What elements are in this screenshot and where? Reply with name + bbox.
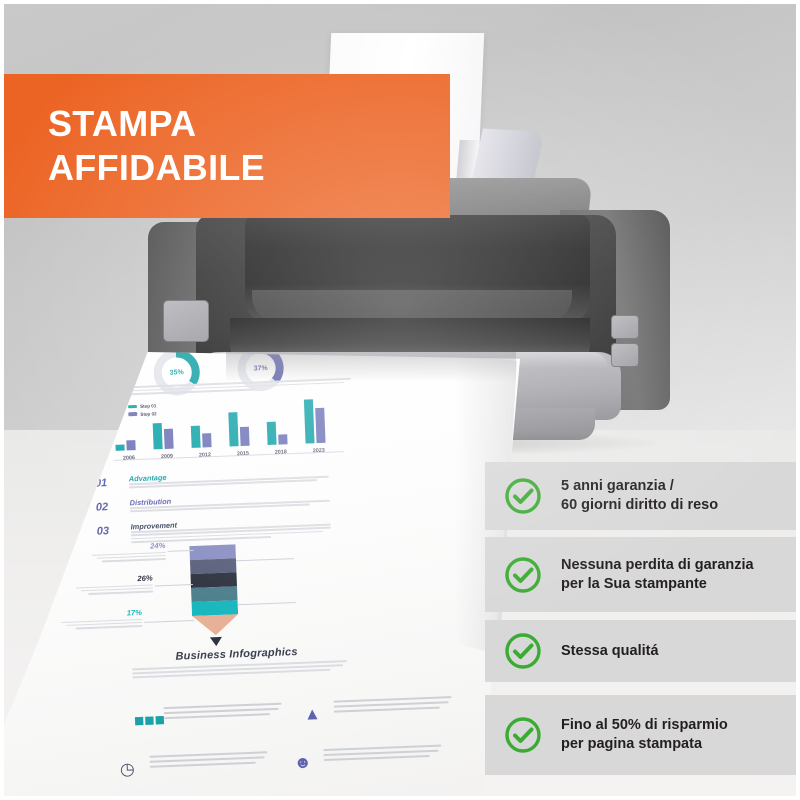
feature-box-savings[interactable]: Fino al 50% di risparmio per pagina stam… [485,695,796,775]
check-circle-icon [503,555,543,595]
numbered-item-03-number: 03 [97,525,110,537]
bar-group-2015 [228,445,258,446]
funnel-callout-17: 17% [56,608,143,630]
pencil-tip [192,614,239,636]
bar-label-2023: 2023 [304,447,334,454]
printer-control-button-1[interactable] [611,315,639,339]
bar-group-2006 [114,450,144,451]
bar-group-2012 [190,447,220,448]
numbered-list: 01 Advantage 02 Distribution 03 Improvem… [95,466,338,553]
feature-line-1: Stessa qualitá [561,643,659,659]
feature-box-savings-text: Fino al 50% di risparmio per pagina stam… [561,716,728,753]
bar-group-2023 [304,442,334,443]
bar-2015-step-02 [240,427,250,447]
numbered-item-02-number: 02 [96,501,109,513]
feature-icon-item-growth: ▲ [303,696,458,702]
bar-2018-step-02 [278,434,287,445]
feature-icon-item-support: ◷ [119,751,274,757]
bar-label-2018: 2018 [266,449,296,456]
feature-box-no-warranty-loss-text: Nessuna perdita di garanzia per la Sua s… [561,556,754,593]
funnel-callout-24-text [80,552,166,563]
funnel-callout-24: 24% [79,541,166,563]
bar-label-2006: 2006 [114,455,144,462]
feature-icon-item-idea-text [323,744,443,764]
feature-line-2: 60 giorni diritto di reso [561,497,718,513]
feature-box-no-warranty-loss[interactable]: Nessuna perdita di garanzia per la Sua s… [485,537,796,612]
headline-line-2: AFFIDABILE [48,146,438,190]
bar-2006-step-01 [115,444,124,451]
bar-2006-step-02 [126,440,135,450]
headline-line-1: STAMPA [48,102,438,146]
bar-2023-step-01 [304,399,315,443]
feature-box-same-quality-text: Stessa qualitá [561,642,659,661]
bar-chart: 200620092012201520182023 [112,390,344,461]
check-circle-icon [503,631,543,671]
funnel-leader-line-4 [236,558,294,561]
feature-icon-item-people: ■■■ [134,702,289,708]
lightbulb-idea-icon: ☻ [293,754,312,772]
printout-business-paragraph [132,660,347,681]
feature-box-same-quality[interactable]: Stessa qualitá [485,620,796,682]
bar-group-2018 [266,444,296,445]
feature-line-1: 5 anni garanzia / [561,478,674,494]
bar-2012-step-01 [191,426,201,448]
clock-support-icon: ◷ [120,760,135,778]
people-icon: ■■■ [134,711,165,729]
funnel-callout-17-text [56,619,142,630]
feature-line-2: per la Sua stampante [561,576,707,592]
printer-control-button-2[interactable] [611,343,639,367]
check-circle-icon [503,476,543,516]
printer-power-button[interactable] [163,300,209,342]
feature-box-warranty-text: 5 anni garanzia / 60 giorni diritto di r… [561,477,718,514]
bar-label-2009: 2009 [152,453,182,460]
check-circle-icon [503,715,543,755]
funnel-pencil-graphic [189,544,238,636]
feature-line-1: Fino al 50% di risparmio [561,717,728,733]
pencil-lead [210,637,222,646]
bar-2015-step-01 [228,413,238,447]
bar-2009-step-01 [153,423,163,450]
bar-label-2012: 2012 [190,452,220,459]
feature-icon-item-idea: ☻ [293,744,448,750]
feature-icon-item-growth-text [333,696,453,716]
headline-banner: STAMPA AFFIDABILE [0,74,450,218]
bar-2018-step-01 [267,421,277,445]
bar-2023-step-02 [315,408,325,444]
funnel-leader-line-5 [238,602,296,605]
funnel-callout-26-text [67,584,153,595]
funnel-leader-line-3 [144,620,194,623]
bar-group-2009 [152,448,182,449]
feature-box-warranty[interactable]: 5 anni garanzia / 60 giorni diritto di r… [485,462,796,530]
bar-label-2015: 2015 [228,450,258,457]
bar-2009-step-02 [164,429,174,449]
feature-icon-item-support-text [149,751,269,771]
advertisement-banner: Banner Infographics 35% 37% Step 01 Step… [0,0,800,800]
funnel-callout-26: 26% [67,574,154,596]
bar-chart-growth-icon: ▲ [304,705,321,723]
funnel-leader-line-2 [155,584,193,586]
feature-line-2: per pagina stampata [561,736,702,752]
bar-2012-step-02 [202,433,212,448]
feature-icon-item-people-text [164,703,284,723]
headline-text: STAMPA AFFIDABILE [48,102,438,190]
feature-line-1: Nessuna perdita di garanzia [561,557,754,573]
